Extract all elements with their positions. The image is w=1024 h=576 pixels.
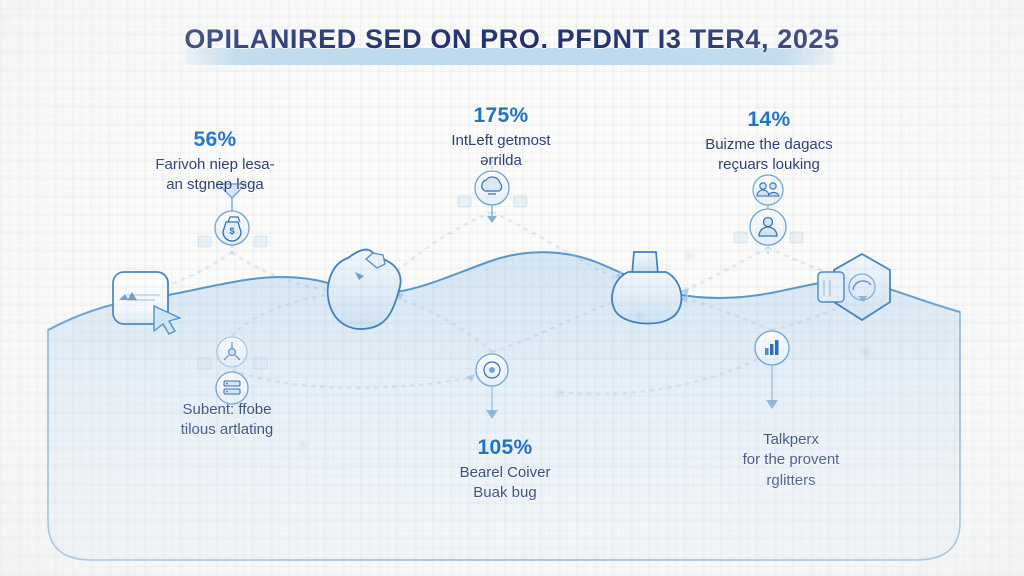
annotation-cluster-bottom-center[interactable]: 105% Bearel Coiver Buak bug <box>390 436 620 504</box>
annotation-caption-line: ərrilda <box>386 151 616 171</box>
icon-badge-top-right-upper[interactable] <box>753 175 783 210</box>
annotation-caption-line: Buak bug <box>390 483 620 503</box>
annotation-cluster-top-left[interactable]: 56% Farivoh niep lesa- an stgnep lsga <box>100 128 330 196</box>
annotation-caption-line: Buizme the dagacs <box>654 135 884 155</box>
annotation-caption-line: Talkperx <box>676 430 906 450</box>
svg-text:$: $ <box>229 226 234 236</box>
icon-badge-top-right-lower[interactable] <box>750 209 786 256</box>
annotation-percent: 14% <box>654 108 884 132</box>
annotation-cluster-bottom-right[interactable]: Talkperx for the provent rglitters <box>676 430 906 491</box>
annotation-caption-line: for the provent <box>676 450 906 470</box>
page-title: OPILANIRED SED ON PRO. PFDNT I3 TER4, 20… <box>0 24 1024 55</box>
annotation-percent: 56% <box>100 128 330 152</box>
icon-badge-bottom-left-upper[interactable] <box>217 337 247 367</box>
annotation-caption-line: Farivoh niep lesa- <box>100 155 330 175</box>
annotation-percent: 105% <box>390 436 620 460</box>
annotation-caption-line: reçuars louking <box>654 155 884 175</box>
annotation-caption-line: an stgnep lsga <box>100 175 330 195</box>
annotation-cluster-top-right[interactable]: 14% Buizme the dagacs reçuars louking <box>654 108 884 176</box>
annotation-caption-line: Subent: ffobe <box>112 400 342 420</box>
annotation-cluster-bottom-left[interactable]: Subent: ffobe tilous artlating <box>112 400 342 441</box>
annotation-caption-line: tilous artlating <box>112 420 342 440</box>
annotation-caption-line: Bearel Coiver <box>390 463 620 483</box>
annotation-caption-line: IntLeft getmost <box>386 131 616 151</box>
annotation-caption-line: rglitters <box>676 471 906 491</box>
annotation-percent: 175% <box>386 104 616 128</box>
infographic-canvas: $ <box>0 0 1024 576</box>
node-flask[interactable] <box>612 252 681 324</box>
annotation-cluster-top-center[interactable]: 175% IntLeft getmost ərrilda <box>386 104 616 172</box>
